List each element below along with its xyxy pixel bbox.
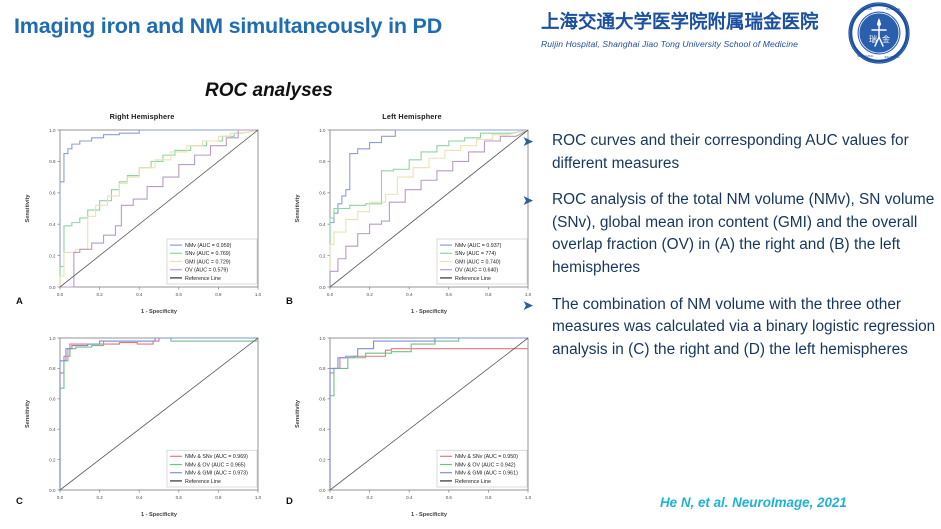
svg-text:RUIJIN: RUIJIN xyxy=(862,7,872,11)
y-tick-label: 1.0 xyxy=(319,128,326,133)
roc-plot: 0.00.20.40.60.81.00.00.20.40.60.81.01 - … xyxy=(288,124,536,317)
svg-text:瑞: 瑞 xyxy=(869,34,877,44)
y-tick-label: 1.0 xyxy=(49,128,56,133)
y-tick-label: 0.8 xyxy=(319,366,326,371)
bullet-arrow-icon: ➤ xyxy=(518,189,552,279)
x-tick-label: 0.6 xyxy=(446,495,453,500)
x-tick-label: 0.8 xyxy=(215,495,222,500)
bullet-item: ➤The combination of NM volume with the t… xyxy=(518,294,938,362)
x-axis-label: 1 - Specificity xyxy=(141,309,178,315)
y-tick-label: 0.6 xyxy=(319,191,326,196)
y-tick-label: 0.8 xyxy=(49,366,56,371)
legend-label: GMI (AUC = 0.740) xyxy=(455,259,501,265)
svg-text:SHANGHAI: SHANGHAI xyxy=(857,54,873,58)
x-tick-label: 0.8 xyxy=(485,495,492,500)
legend-label: SNv (AUC = 774) xyxy=(455,251,496,257)
roc-chart-panel-c: 0.00.20.40.60.81.00.00.20.40.60.81.01 - … xyxy=(18,320,266,520)
x-tick-label: 0.2 xyxy=(366,292,373,297)
y-tick-label: 1.0 xyxy=(319,336,326,341)
bullet-item: ➤ROC analysis of the total NM volume (NM… xyxy=(518,189,938,279)
panel-letter-d: D xyxy=(286,496,293,507)
x-tick-label: 0.4 xyxy=(406,292,413,297)
legend-label: NMv & GMI (AUC = 0.973) xyxy=(185,471,248,477)
legend-label: NMv & OV (AUC = 0.965) xyxy=(185,462,246,468)
legend-label: NMv (AUC = 0.937) xyxy=(455,243,502,249)
legend-label: NMv & OV (AUC = 0.942) xyxy=(455,462,516,468)
legend-label: GMI (AUC = 0.729) xyxy=(185,259,231,265)
x-tick-label: 0.0 xyxy=(327,292,334,297)
x-tick-label: 0.4 xyxy=(136,292,143,297)
y-axis-label: Sensitivity xyxy=(295,194,301,223)
roc-chart-panel-b: Left Hemisphere0.00.20.40.60.81.00.00.20… xyxy=(288,112,536,317)
y-tick-label: 0.8 xyxy=(49,159,56,164)
legend-label: Reference Line xyxy=(185,276,221,282)
roc-chart-panel-d: 0.00.20.40.60.81.00.00.20.40.60.81.01 - … xyxy=(288,320,536,520)
x-tick-label: 0.6 xyxy=(446,292,453,297)
x-axis-label: 1 - Specificity xyxy=(411,512,448,518)
hospital-branding: 上海交通大学医学院附属瑞金医院 Ruijin Hospital, Shangha… xyxy=(541,8,841,49)
x-tick-label: 0.8 xyxy=(485,292,492,297)
legend-label: Reference Line xyxy=(455,479,491,485)
section-heading: ROC analyses xyxy=(205,80,333,102)
y-tick-label: 1.0 xyxy=(49,336,56,341)
y-tick-label: 0.4 xyxy=(319,427,326,432)
svg-text:HOSPITAL: HOSPITAL xyxy=(886,7,901,11)
ruijin-hospital-seal-icon: 瑞 金 RUIJINHOSPITAL SHANGHAIJIAOTONG xyxy=(848,2,910,64)
y-tick-label: 0.0 xyxy=(49,285,56,290)
chart-title: Left Hemisphere xyxy=(288,112,536,124)
bullet-text: ROC analysis of the total NM volume (NMv… xyxy=(552,189,938,279)
legend-label: NMv & GMI (AUC = 0.961) xyxy=(455,471,518,477)
legend-label: Reference Line xyxy=(185,479,221,485)
panel-letter-b: B xyxy=(286,296,293,307)
y-tick-label: 0.0 xyxy=(319,488,326,493)
roc-plot: 0.00.20.40.60.81.00.00.20.40.60.81.01 - … xyxy=(288,332,536,520)
x-tick-label: 0.0 xyxy=(57,495,64,500)
svg-text:JIAOTONG: JIAOTONG xyxy=(884,55,900,59)
chart-title xyxy=(18,320,266,332)
y-tick-label: 0.6 xyxy=(49,191,56,196)
roc-plot: 0.00.20.40.60.81.00.00.20.40.60.81.01 - … xyxy=(18,332,266,520)
chart-title xyxy=(288,320,536,332)
y-tick-label: 0.2 xyxy=(49,457,56,462)
panel-letter-a: A xyxy=(16,296,23,307)
bullet-arrow-icon: ➤ xyxy=(518,130,552,175)
y-tick-label: 0.0 xyxy=(319,285,326,290)
legend-label: NMv (AUC = 0.959) xyxy=(185,243,232,249)
y-axis-label: Sensitivity xyxy=(25,399,31,428)
x-tick-label: 0.8 xyxy=(215,292,222,297)
x-tick-label: 0.6 xyxy=(176,495,183,500)
y-tick-label: 0.4 xyxy=(49,427,56,432)
legend-label: Reference Line xyxy=(455,276,491,282)
y-axis-label: Sensitivity xyxy=(25,194,31,223)
y-tick-label: 0.4 xyxy=(49,222,56,227)
x-tick-label: 0.0 xyxy=(57,292,64,297)
y-tick-label: 0.8 xyxy=(319,159,326,164)
bullet-text: ROC curves and their corresponding AUC v… xyxy=(552,130,938,175)
x-tick-label: 0.2 xyxy=(366,495,373,500)
legend-label: OV (AUC = 0.640) xyxy=(455,268,498,274)
bullet-list: ➤ROC curves and their corresponding AUC … xyxy=(518,130,938,375)
y-tick-label: 0.4 xyxy=(319,222,326,227)
hospital-name-english: Ruijin Hospital, Shanghai Jiao Tong Univ… xyxy=(541,39,841,49)
page-title: Imaging iron and NM simultaneously in PD xyxy=(14,14,442,39)
legend-label: NMv & SNv (AUC = 0.969) xyxy=(185,454,248,460)
roc-plot: 0.00.20.40.60.81.00.00.20.40.60.81.01 - … xyxy=(18,124,266,317)
citation-text: He N, et al. NeuroImage, 2021 xyxy=(660,495,847,510)
x-tick-label: 0.2 xyxy=(96,495,103,500)
chart-title: Right Hemisphere xyxy=(18,112,266,124)
y-tick-label: 0.2 xyxy=(49,253,56,258)
svg-text:金: 金 xyxy=(882,34,890,44)
legend-label: OV (AUC = 0.579) xyxy=(185,268,228,274)
x-axis-label: 1 - Specificity xyxy=(141,512,178,518)
x-tick-label: 0.4 xyxy=(136,495,143,500)
x-tick-label: 0.4 xyxy=(406,495,413,500)
legend-label: NMv & SNv (AUC = 0.950) xyxy=(455,454,518,460)
y-tick-label: 0.6 xyxy=(49,397,56,402)
roc-chart-panel-a: Right Hemisphere0.00.20.40.60.81.00.00.2… xyxy=(18,112,266,317)
slide-canvas: Imaging iron and NM simultaneously in PD… xyxy=(0,0,941,529)
panel-letter-c: C xyxy=(16,496,23,507)
x-tick-label: 0.2 xyxy=(96,292,103,297)
roc-curve xyxy=(330,349,528,490)
x-tick-label: 0.0 xyxy=(327,495,334,500)
hospital-name-chinese: 上海交通大学医学院附属瑞金医院 xyxy=(541,8,841,34)
bullet-arrow-icon: ➤ xyxy=(518,294,552,362)
y-tick-label: 0.6 xyxy=(319,397,326,402)
y-tick-label: 0.2 xyxy=(319,253,326,258)
y-axis-label: Sensitivity xyxy=(295,399,301,428)
x-tick-label: 0.6 xyxy=(176,292,183,297)
x-axis-label: 1 - Specificity xyxy=(411,309,448,315)
legend-label: SNv (AUC = 0.769) xyxy=(185,251,231,257)
bullet-text: The combination of NM volume with the th… xyxy=(552,294,938,362)
x-tick-label: 1.0 xyxy=(255,495,262,500)
y-tick-label: 0.2 xyxy=(319,457,326,462)
x-tick-label: 1.0 xyxy=(255,292,262,297)
bullet-item: ➤ROC curves and their corresponding AUC … xyxy=(518,130,938,175)
y-tick-label: 0.0 xyxy=(49,488,56,493)
x-tick-label: 1.0 xyxy=(525,495,532,500)
